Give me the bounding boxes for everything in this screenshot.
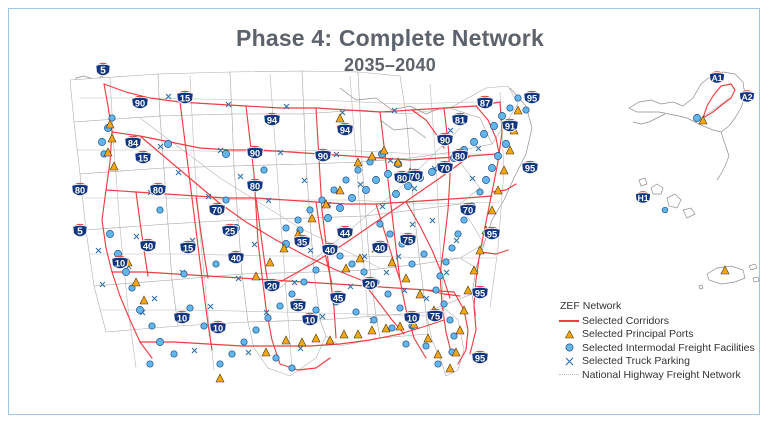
- svg-text:10: 10: [407, 313, 417, 323]
- legend-item-selected-corridors: Selected Corridors: [556, 314, 771, 328]
- svg-text:70: 70: [440, 163, 450, 173]
- interstate-shield-20: 20: [264, 279, 281, 292]
- interstate-shield-84: 84: [125, 136, 142, 149]
- interstate-shield-25: 25: [222, 224, 239, 237]
- svg-text:91: 91: [505, 121, 515, 131]
- interstate-shield-A2: A2: [739, 90, 754, 102]
- interstate-shield-35: 35: [294, 235, 311, 248]
- interstate-shield-10: 10: [404, 311, 421, 324]
- svg-text:40: 40: [325, 245, 335, 255]
- svg-text:80: 80: [397, 173, 407, 183]
- svg-text:5: 5: [77, 226, 83, 237]
- legend-label: Selected Intermodal Freight Facilities: [582, 342, 755, 354]
- interstate-shield-81: 81: [452, 113, 469, 126]
- interstate-shield-90: 90: [315, 149, 332, 162]
- interstate-shield-95: 95: [524, 91, 541, 104]
- svg-text:A2: A2: [742, 92, 753, 102]
- svg-text:10: 10: [177, 313, 187, 323]
- svg-text:40: 40: [143, 241, 153, 251]
- interstate-shield-80: 80: [394, 171, 411, 184]
- svg-text:70: 70: [212, 205, 222, 215]
- interstate-shield-87: 87: [477, 96, 494, 109]
- svg-text:90: 90: [135, 98, 145, 108]
- interstate-shield-15: 15: [177, 91, 194, 104]
- page-title: Phase 4: Complete Network: [130, 26, 650, 52]
- legend-item-nhfn: National Highway Freight Network: [556, 368, 771, 382]
- svg-text:87: 87: [480, 98, 490, 108]
- interstate-shield-10: 10: [174, 311, 191, 324]
- svg-text:35: 35: [293, 301, 303, 311]
- interstate-shield-75: 75: [427, 309, 444, 322]
- legend-label: Selected Corridors: [582, 315, 669, 327]
- interstate-shield-80: 80: [150, 183, 167, 196]
- svg-text:95: 95: [527, 93, 537, 103]
- svg-text:90: 90: [440, 135, 450, 145]
- svg-text:15: 15: [183, 243, 193, 253]
- interstate-shield-20: 20: [362, 277, 379, 290]
- interstate-shield-70: 70: [437, 161, 454, 174]
- blue-cross-icon: [556, 356, 582, 367]
- interstate-shield-40: 40: [372, 241, 389, 254]
- interstate-shield-80: 80: [247, 179, 264, 192]
- svg-text:95: 95: [475, 288, 485, 298]
- interstate-shield-5: 5: [73, 224, 87, 238]
- interstate-shield-95: 95: [472, 286, 489, 299]
- svg-text:75: 75: [430, 311, 440, 321]
- svg-text:90: 90: [250, 148, 260, 158]
- interstate-shield-40: 40: [140, 239, 157, 252]
- svg-text:5: 5: [100, 65, 106, 76]
- svg-text:10: 10: [305, 315, 315, 325]
- interstate-shield-15: 15: [180, 241, 197, 254]
- svg-text:75: 75: [403, 235, 413, 245]
- svg-text:95: 95: [525, 163, 535, 173]
- interstate-shield-35: 35: [290, 299, 307, 312]
- map-inset-puerto-rico: [695, 252, 763, 302]
- legend-label: Selected Principal Ports: [582, 328, 693, 340]
- interstate-shield-40: 40: [322, 243, 339, 256]
- interstate-shield-10: 10: [112, 256, 129, 269]
- svg-text:80: 80: [75, 185, 85, 195]
- slide-root: Phase 4: Complete Network 2035–2040: [0, 0, 773, 433]
- gray-dotted-line-icon: [556, 374, 582, 375]
- svg-text:15: 15: [138, 153, 148, 163]
- svg-text:95: 95: [487, 229, 497, 239]
- interstate-shield-5: 5: [96, 63, 110, 77]
- svg-text:94: 94: [267, 115, 278, 125]
- red-line-icon: [556, 320, 582, 322]
- legend-label: Selected Truck Parking: [582, 355, 690, 367]
- blue-circle-icon: [556, 342, 582, 353]
- svg-text:A1: A1: [712, 73, 723, 83]
- interstate-shield-15: 15: [135, 151, 152, 164]
- interstate-shield-90: 90: [132, 96, 149, 109]
- svg-text:81: 81: [455, 115, 465, 125]
- svg-text:80: 80: [153, 185, 163, 195]
- interstate-shield-70: 70: [460, 203, 477, 216]
- svg-text:20: 20: [365, 279, 375, 289]
- svg-text:80: 80: [455, 151, 465, 161]
- map-conus: 5901594841590949080808070525354440154040…: [40, 58, 600, 388]
- svg-text:70: 70: [463, 205, 473, 215]
- interstate-shield-H1: H1: [635, 191, 650, 203]
- svg-text:45: 45: [333, 293, 343, 303]
- interstate-shield-95: 95: [472, 351, 489, 364]
- svg-text:40: 40: [375, 243, 385, 253]
- interstate-shield-80: 80: [452, 149, 469, 162]
- svg-text:35: 35: [297, 237, 307, 247]
- interstate-shield-10: 10: [210, 321, 227, 334]
- interstate-shield-A1: A1: [709, 71, 724, 83]
- svg-text:10: 10: [115, 258, 125, 268]
- interstate-shield-91: 91: [502, 119, 519, 132]
- legend-title: ZEF Network: [556, 300, 771, 312]
- interstate-shield-45: 45: [330, 291, 347, 304]
- interstate-shield-95: 95: [522, 161, 539, 174]
- svg-text:95: 95: [475, 353, 485, 363]
- svg-text:94: 94: [340, 125, 351, 135]
- interstate-shield-94: 94: [337, 123, 354, 136]
- legend-item-principal-ports: Selected Principal Ports: [556, 328, 771, 342]
- svg-text:20: 20: [267, 281, 277, 291]
- svg-text:15: 15: [180, 93, 190, 103]
- interstate-shield-90: 90: [437, 133, 454, 146]
- legend-item-intermodal-facilities: Selected Intermodal Freight Facilities: [556, 341, 771, 355]
- interstate-shield-80: 80: [72, 183, 89, 196]
- map-legend: ZEF Network Selected Corridors Selected …: [556, 300, 771, 382]
- svg-text:44: 44: [340, 228, 351, 238]
- interstate-shield-70: 70: [209, 203, 226, 216]
- svg-text:84: 84: [128, 138, 139, 148]
- interstate-shield-44: 44: [337, 226, 354, 239]
- legend-item-truck-parking: Selected Truck Parking: [556, 355, 771, 369]
- svg-text:80: 80: [250, 181, 260, 191]
- map-inset-hawaii: H1: [625, 150, 705, 220]
- interstate-shield-40: 40: [228, 251, 245, 264]
- svg-text:10: 10: [213, 323, 223, 333]
- orange-triangle-icon: [556, 329, 582, 340]
- svg-text:40: 40: [231, 253, 241, 263]
- svg-text:90: 90: [318, 151, 328, 161]
- interstate-shield-94: 94: [264, 113, 281, 126]
- svg-text:70: 70: [410, 171, 420, 181]
- svg-text:25: 25: [225, 226, 235, 236]
- legend-label: National Highway Freight Network: [582, 369, 741, 381]
- interstate-shield-10: 10: [302, 313, 319, 326]
- interstate-shield-75: 75: [400, 233, 417, 246]
- interstate-shield-90: 90: [247, 146, 264, 159]
- interstate-shield-95: 95: [484, 227, 501, 240]
- svg-text:H1: H1: [638, 193, 649, 203]
